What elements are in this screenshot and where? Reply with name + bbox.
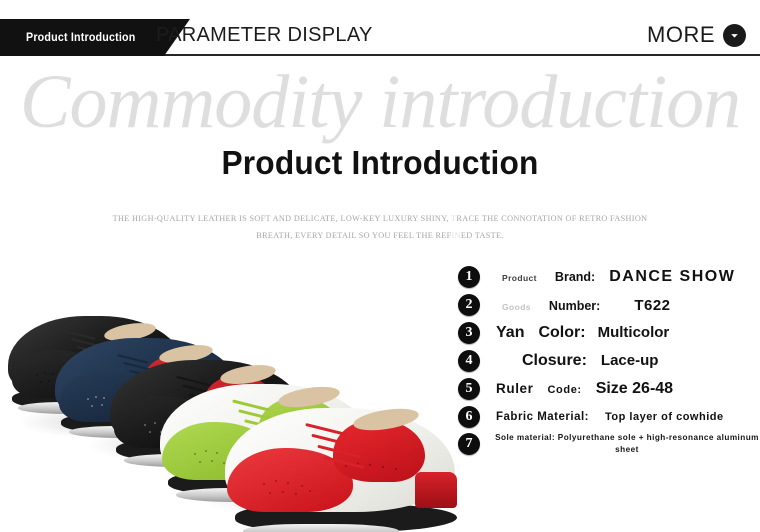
- spec-value-brand: DANCE SHOW: [609, 268, 735, 286]
- spec-value-size: Size 26-48: [596, 380, 673, 398]
- shoe-heel: [415, 472, 457, 508]
- spec-label-number: Number:: [549, 299, 600, 313]
- spec-prelabel-ruler: Ruler: [496, 381, 534, 396]
- spec-value-number: T622: [634, 297, 670, 314]
- watermark-text: Commodity introduction: [0, 64, 760, 140]
- more-button-label: MORE: [647, 22, 715, 48]
- description-line-2-b: IN: [452, 231, 461, 240]
- spec-value-sole: Sole material: Polyurethane sole + high-…: [494, 432, 760, 456]
- spec-row-color: 3 Yan Color: Multicolor: [458, 322, 669, 344]
- chevron-down-circle-icon: [723, 24, 746, 47]
- spec-badge-3: 3: [458, 322, 480, 344]
- hero-title-block: Commodity introduction Product Introduct…: [0, 56, 760, 206]
- product-description: THE HIGH-QUALITY LEATHER IS SOFT AND DEL…: [0, 210, 760, 244]
- description-line-1: THE HIGH-QUALITY LEATHER IS SOFT AND DEL…: [0, 210, 760, 227]
- shoe-red-white: [225, 396, 470, 532]
- spec-row-closure: 4 Closure: Lace-up: [458, 350, 658, 372]
- spec-label-brand: Brand:: [555, 270, 595, 284]
- more-button[interactable]: MORE: [647, 22, 746, 48]
- brogue-perforations: [259, 480, 339, 502]
- spec-row-fabric: 6 Fabric Material: Top layer of cowhide: [458, 406, 724, 428]
- spec-label-color: Color:: [538, 324, 585, 342]
- spec-prelabel-goods: Goods: [502, 302, 531, 312]
- description-line-2-a: BREATH, EVERY DETAIL SO YOU FEEL THE REF: [256, 231, 451, 240]
- spec-label-code: Code:: [548, 384, 582, 396]
- spec-row-sole: 7 Sole material: Polyurethane sole + hig…: [458, 432, 760, 456]
- description-line-1-c: RACE THE CONNOTATION OF RETRO FASHION: [456, 214, 647, 223]
- spec-label-fabric: Fabric Material:: [496, 411, 589, 423]
- spec-value-fabric: Top layer of cowhide: [605, 411, 724, 423]
- spec-badge-2: 2: [458, 294, 480, 316]
- spec-row-size: 5 Ruler Code: Size 26-48: [458, 378, 673, 400]
- description-line-1-a: THE HIGH-QUALITY LEATHER IS SOFT AND DEL…: [113, 214, 449, 223]
- specification-list: 1 Product Brand: DANCE SHOW 2 Goods Numb…: [458, 266, 760, 466]
- tab-parameter-display[interactable]: PARAMETER DISPLAY: [156, 24, 373, 47]
- spec-value-closure: Lace-up: [601, 352, 659, 369]
- page-title: Product Introduction: [15, 144, 745, 182]
- spec-row-brand: 1 Product Brand: DANCE SHOW: [458, 266, 735, 288]
- description-line-2: BREATH, EVERY DETAIL SO YOU FEEL THE REF…: [0, 227, 760, 244]
- tap-plate: [243, 524, 399, 532]
- spec-badge-1: 1: [458, 266, 480, 288]
- spec-badge-4: 4: [458, 350, 480, 372]
- product-photo: [0, 288, 470, 532]
- spec-label-closure: Closure:: [522, 352, 587, 370]
- spec-prelabel-product: Product: [502, 273, 537, 283]
- spec-prelabel-yan: Yan: [496, 324, 524, 342]
- page-header: Product Introduction PARAMETER DISPLAY M…: [0, 0, 760, 56]
- spec-value-color: Multicolor: [598, 324, 670, 341]
- description-line-2-c: ED TASTE.: [461, 231, 504, 240]
- spec-row-number: 2 Goods Number: T622: [458, 294, 671, 316]
- tab-product-introduction-label: Product Introduction: [26, 32, 135, 44]
